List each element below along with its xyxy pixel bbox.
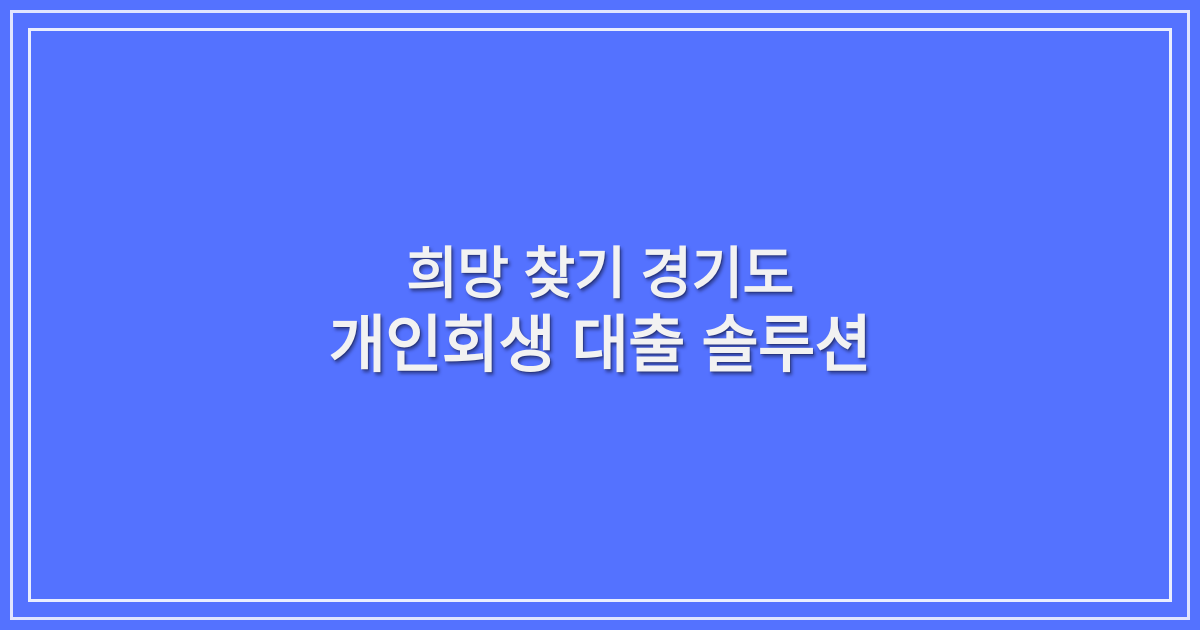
headline-line-2: 개인회생 대출 솔루션 [60,308,1140,384]
headline-line-1: 희망 찾기 경기도 [60,240,1140,308]
banner-headline: 희망 찾기 경기도 개인회생 대출 솔루션 [0,240,1200,384]
promo-banner: 희망 찾기 경기도 개인회생 대출 솔루션 [0,0,1200,630]
